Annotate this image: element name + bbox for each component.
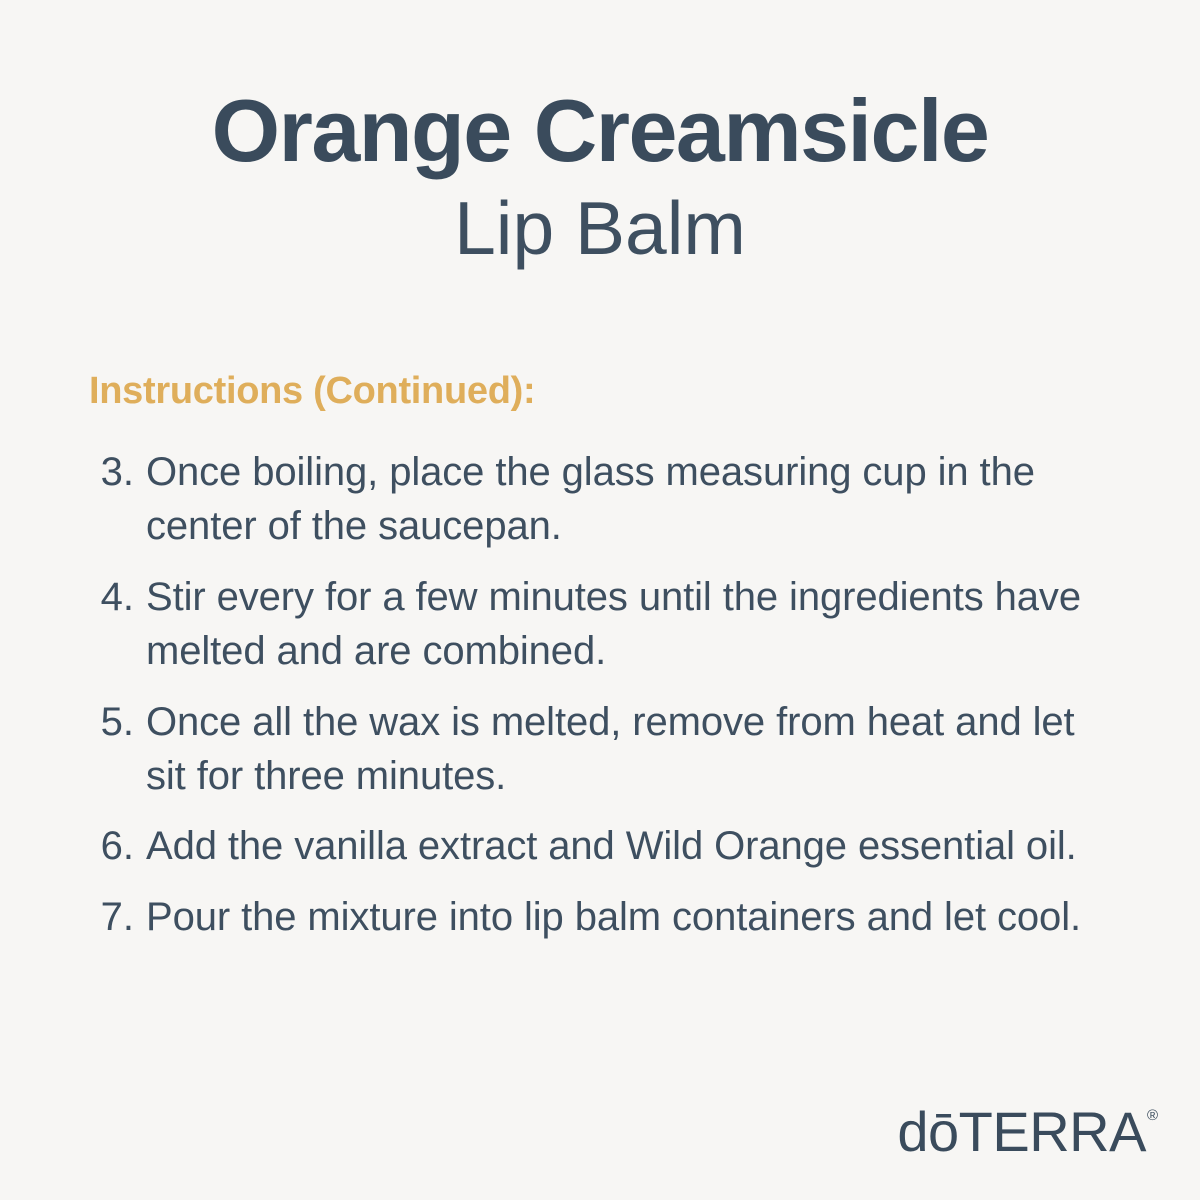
list-item: 5. Once all the wax is melted, remove fr… [88, 695, 1123, 804]
list-item-number: 6. [88, 819, 134, 873]
list-item: 7. Pour the mixture into lip balm contai… [88, 890, 1123, 944]
list-item: 3. Once boiling, place the glass measuri… [88, 445, 1123, 554]
list-item-number: 5. [88, 695, 134, 749]
list-item-text: Pour the mixture into lip balm container… [134, 890, 1123, 944]
list-item: 4. Stir every for a few minutes until th… [88, 570, 1123, 679]
list-item-number: 4. [88, 570, 134, 624]
list-item-number: 3. [88, 445, 134, 499]
list-item-text: Once boiling, place the glass measuring … [134, 445, 1123, 554]
page-title: Orange Creamsicle [0, 86, 1200, 176]
page-subtitle: Lip Balm [0, 186, 1200, 270]
instructions-list: 3. Once boiling, place the glass measuri… [88, 445, 1123, 944]
list-item: 6. Add the vanilla extract and Wild Oran… [88, 819, 1123, 873]
list-item-text: Stir every for a few minutes until the i… [134, 570, 1123, 679]
list-item-text: Once all the wax is melted, remove from … [134, 695, 1123, 804]
doterra-wordmark: dōTERRA [897, 1104, 1146, 1160]
list-item-text: Add the vanilla extract and Wild Orange … [134, 819, 1123, 873]
recipe-card: Orange Creamsicle Lip Balm Instructions … [0, 0, 1200, 1200]
instructions-heading: Instructions (Continued): [89, 371, 535, 413]
registered-trademark-icon: ® [1147, 1108, 1158, 1123]
doterra-logo: dōTERRA ® [897, 1104, 1158, 1160]
title-block: Orange Creamsicle Lip Balm [0, 86, 1200, 270]
list-item-number: 7. [88, 890, 134, 944]
